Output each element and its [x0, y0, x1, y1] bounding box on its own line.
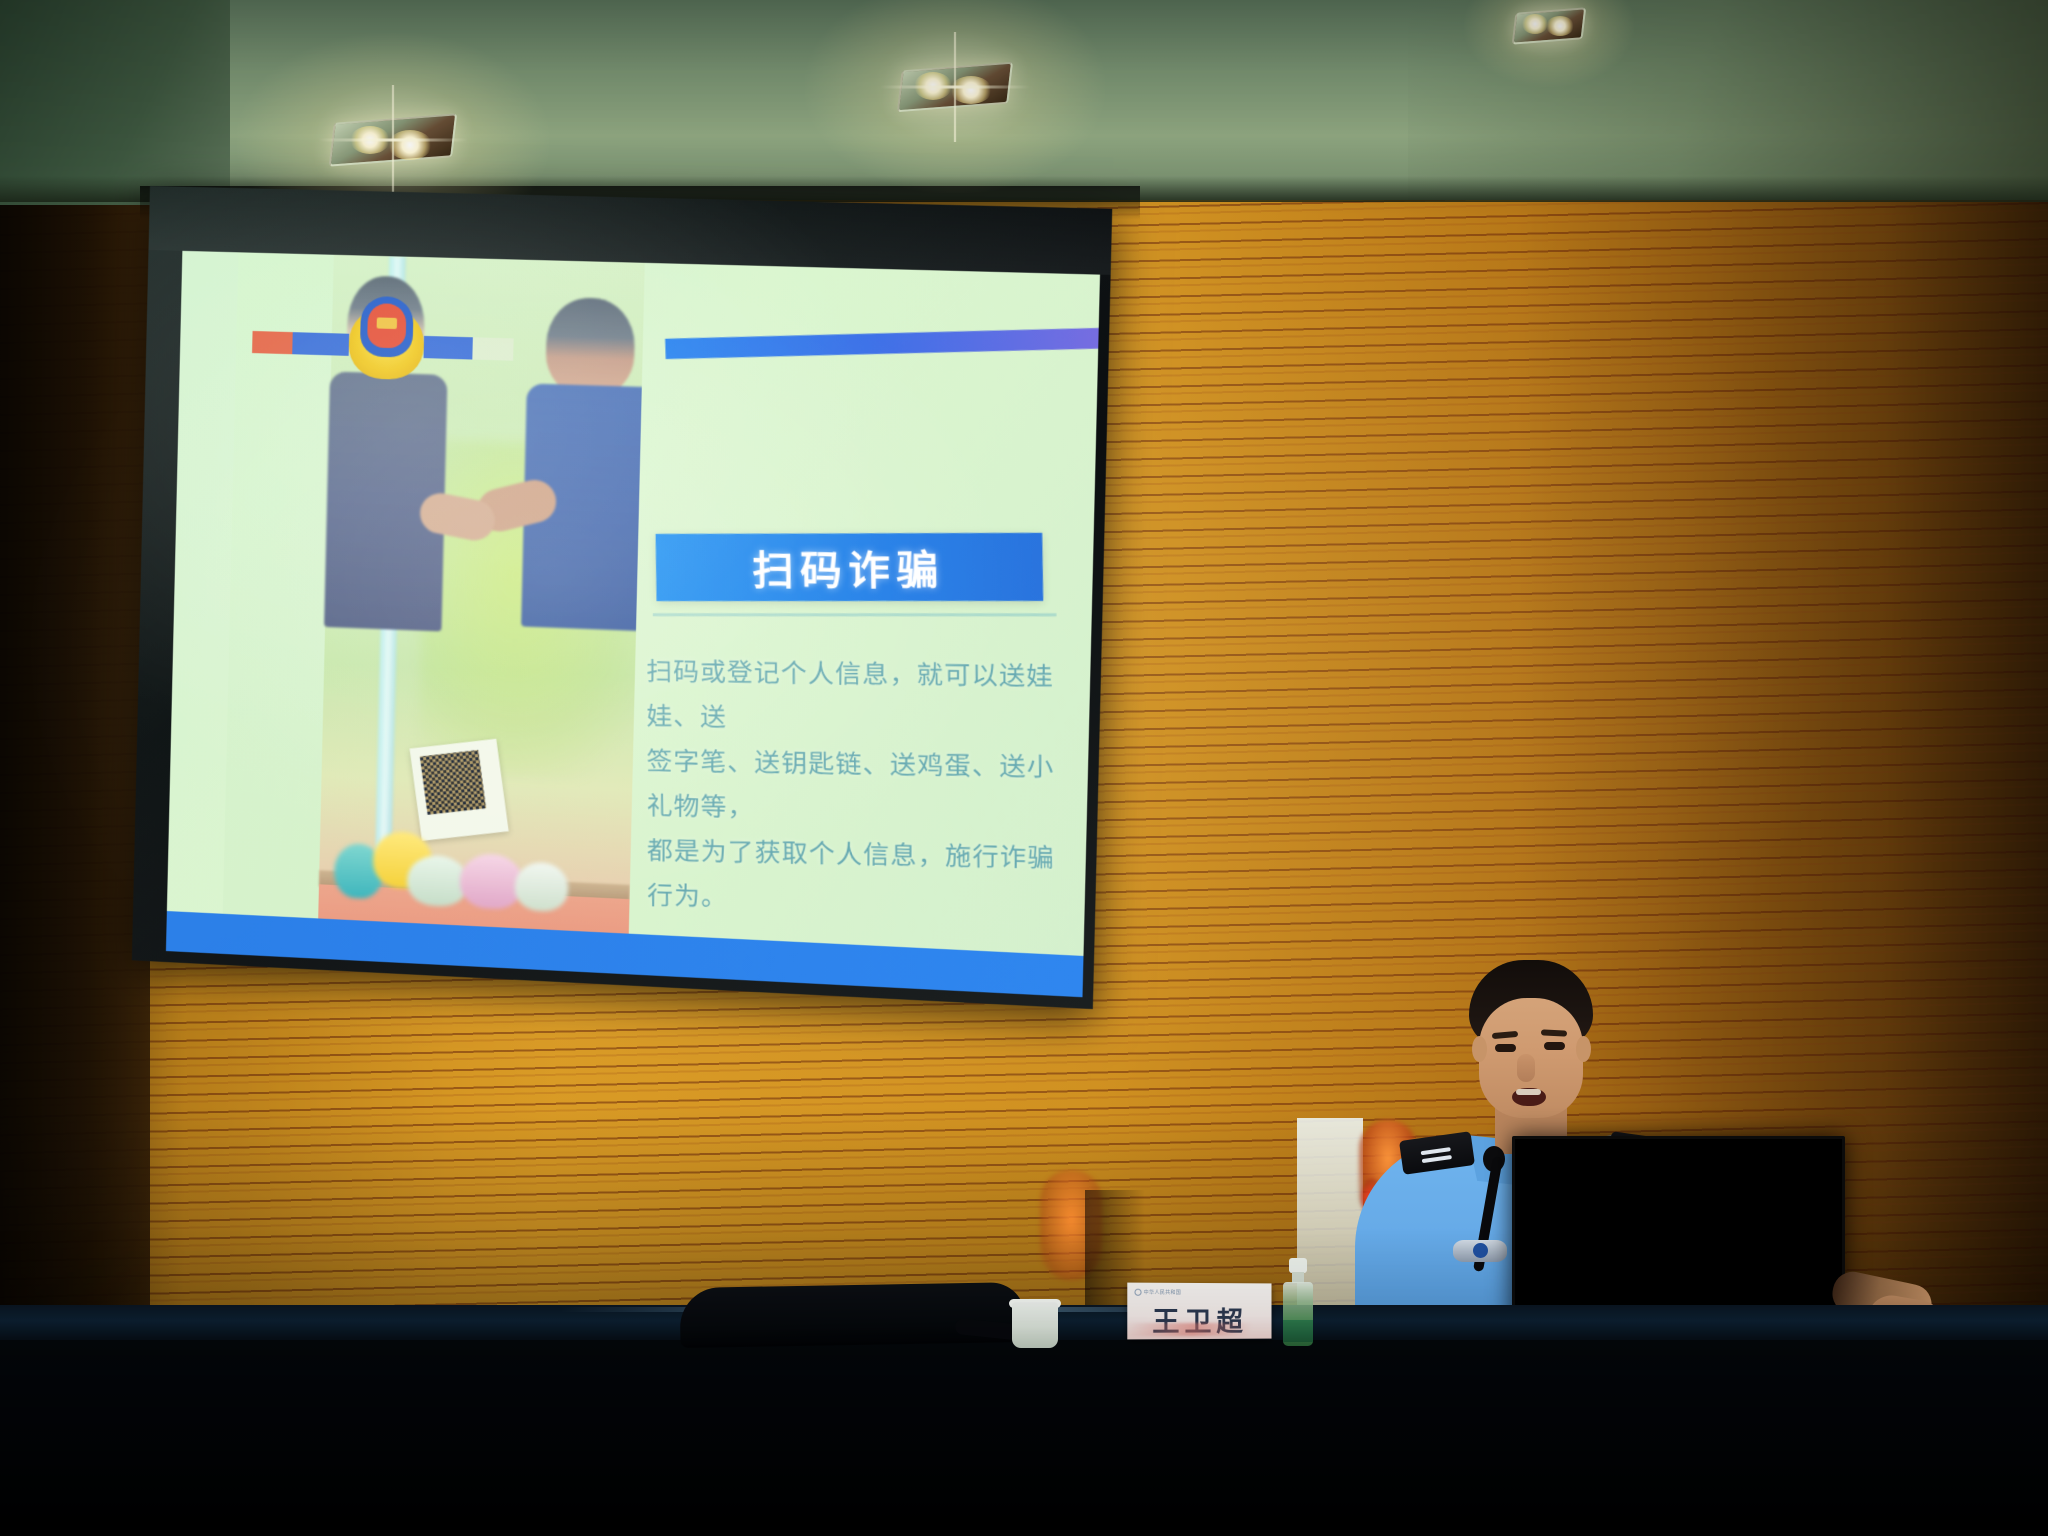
slide-body-line-2: 签字笔、送钥匙链、送鸡蛋、送小礼物等，: [647, 739, 1066, 836]
slide-body-line-1: 扫码或登记个人信息，就可以送娃娃、送: [646, 650, 1065, 746]
officer-nose: [1517, 1054, 1535, 1082]
emblem-star: [377, 317, 398, 329]
officer-eyebrow-right: [1541, 1029, 1567, 1036]
rank-bar: [1421, 1147, 1451, 1155]
bottle-label: [1283, 1320, 1313, 1342]
ceiling-light-right: [1514, 10, 1584, 42]
officer-teeth: [1516, 1089, 1541, 1095]
slide-body-text: 扫码或登记个人信息，就可以送娃娃、送 签字笔、送钥匙链、送鸡蛋、送小礼物等， 都…: [646, 650, 1065, 927]
light-bulb: [388, 130, 432, 160]
ceiling-right-shadow: [1408, 0, 2048, 200]
name-plate: 中华人民共和国 王卫超: [1127, 1283, 1271, 1340]
slide-title: 扫码诈骗: [752, 537, 945, 597]
slide-title-box: 扫码诈骗: [656, 533, 1044, 601]
officer-ear-right: [1576, 1036, 1591, 1062]
ceiling-soffit: [0, 0, 2048, 200]
photo-plush-toys: [332, 829, 609, 921]
light-bulb: [1522, 14, 1548, 34]
logo-mark-icon: [1134, 1289, 1141, 1296]
slide-body-line-3: 都是为了获取个人信息，施行诈骗行为。: [647, 829, 1066, 927]
photo-person-right: [521, 296, 645, 626]
qr-code-pattern: [420, 750, 486, 815]
officer-eye-left: [1495, 1044, 1516, 1052]
slide-text-area: 扫码诈骗 扫码或登记个人信息，就可以送娃娃、送 签字笔、送钥匙链、送鸡蛋、送小礼…: [628, 263, 1100, 997]
photo-person-right-head: [545, 297, 636, 397]
officer-eye-right: [1544, 1042, 1565, 1050]
slide-photo-qr-scam: [222, 252, 645, 974]
bottle-cap: [1289, 1258, 1307, 1273]
officer-ear-left: [1472, 1036, 1487, 1062]
desk-front-panel: [0, 1340, 2048, 1536]
rank-bar: [1422, 1155, 1452, 1163]
light-streak-vertical: [392, 85, 395, 195]
presentation-slide: 扫码诈骗 扫码或登记个人信息，就可以送娃娃、送 签字笔、送钥匙链、送鸡蛋、送小礼…: [166, 251, 1100, 997]
toy-pink: [459, 853, 524, 911]
ceiling-light-left: [332, 118, 454, 162]
slide-accent-bar: [665, 328, 1100, 360]
computer-monitor[interactable]: [1512, 1136, 1845, 1328]
paper-cup[interactable]: [1012, 1302, 1058, 1348]
nameplate-org-text: 中华人民共和国: [1144, 1289, 1181, 1296]
officer-chest-badge-center: [1473, 1243, 1488, 1258]
ceiling-light-center: [900, 66, 1010, 108]
slide-title-underline: [653, 613, 1057, 616]
ceiling-left-dark: [0, 0, 230, 205]
nameplate-decoration: [1127, 1323, 1271, 1337]
photo-qr-code-sheet: [410, 739, 509, 841]
projection-screen: 扫码诈骗 扫码或登记个人信息，就可以送娃娃、送 签字笔、送钥匙链、送鸡蛋、送小礼…: [132, 186, 1112, 1009]
emblem-bar-right: [424, 336, 514, 361]
toy-white-2: [514, 861, 568, 912]
screen-surface: 扫码诈骗 扫码或登记个人信息，就可以送娃娃、送 签字笔、送钥匙链、送鸡蛋、送小礼…: [166, 251, 1100, 997]
china-police-emblem: [344, 291, 429, 380]
emblem-bar-left: [252, 331, 349, 356]
lecture-hall-scene: 扫码诈骗 扫码或登记个人信息，就可以送娃娃、送 签字笔、送钥匙链、送鸡蛋、送小礼…: [0, 0, 2048, 1536]
black-bag[interactable]: [680, 1282, 1026, 1348]
light-streak-vertical: [954, 32, 957, 142]
light-bulb: [1546, 16, 1574, 36]
nameplate-org-logo: 中华人民共和国: [1134, 1289, 1181, 1296]
water-bottle[interactable]: [1283, 1258, 1313, 1346]
